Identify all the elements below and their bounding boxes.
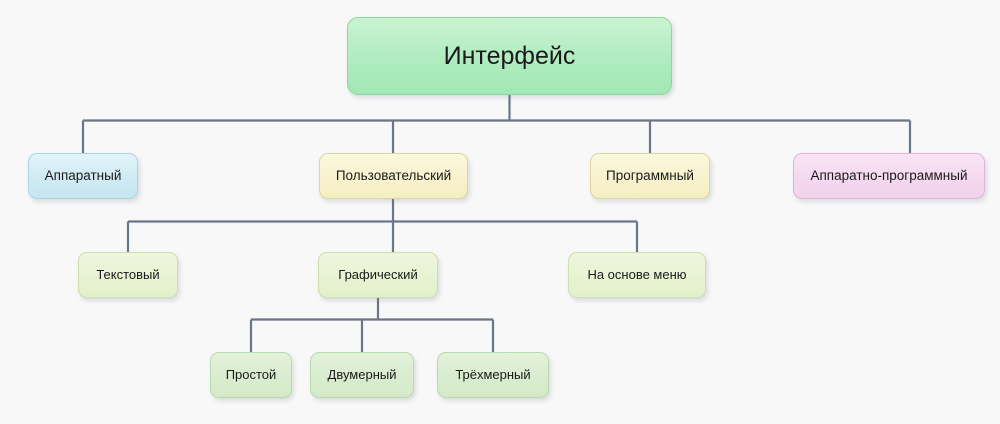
node-label: Текстовый [96, 268, 159, 283]
node-hardware-software[interactable]: Аппаратно-программный [793, 153, 985, 199]
node-interface-root[interactable]: Интерфейс [347, 17, 672, 95]
node-label: Программный [606, 168, 694, 184]
node-label: Графический [338, 268, 417, 283]
node-label: Пользовательский [336, 168, 451, 184]
node-label: Трёхмерный [455, 368, 530, 383]
node-user-interface[interactable]: Пользовательский [319, 153, 468, 199]
node-graphic-interface[interactable]: Графический [318, 252, 438, 298]
node-hardware[interactable]: Аппаратный [28, 153, 138, 199]
node-label: Аппаратно-программный [810, 168, 967, 184]
node-software[interactable]: Программный [590, 153, 710, 199]
node-label: Интерфейс [444, 42, 576, 71]
node-label: На основе меню [587, 268, 686, 283]
node-menu-based-interface[interactable]: На основе меню [568, 252, 706, 298]
node-text-interface[interactable]: Текстовый [78, 252, 178, 298]
interface-hierarchy-diagram: Интерфейс Аппаратный Пользовательский Пр… [0, 0, 1000, 424]
node-simple[interactable]: Простой [210, 352, 292, 398]
node-two-dimensional[interactable]: Двумерный [310, 352, 414, 398]
node-three-dimensional[interactable]: Трёхмерный [437, 352, 549, 398]
node-label: Простой [226, 368, 277, 383]
node-label: Двумерный [328, 368, 397, 383]
node-label: Аппаратный [45, 168, 122, 184]
